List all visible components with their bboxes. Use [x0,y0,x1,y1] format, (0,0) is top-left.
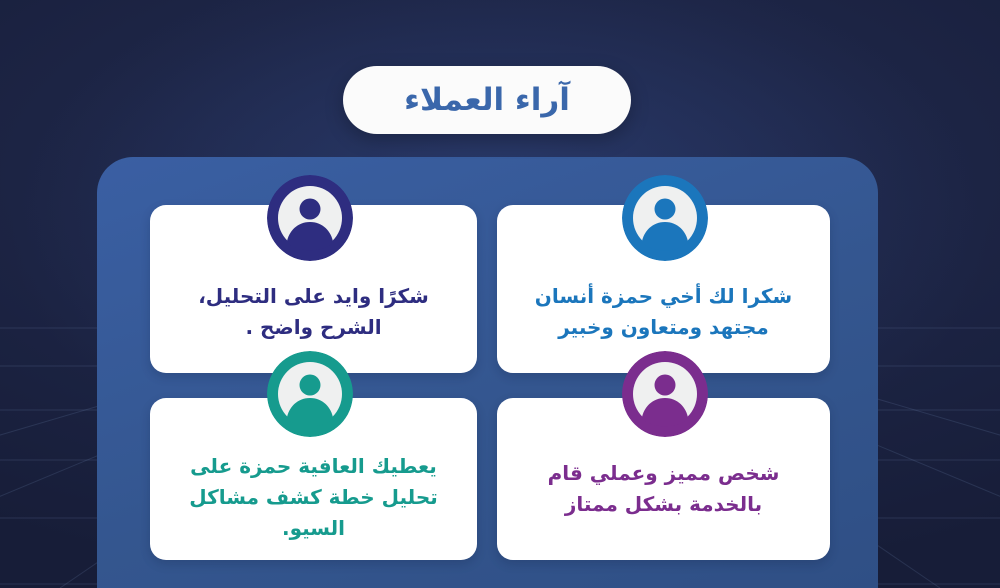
testimonial-text: شخص مميز وعملي قام بالخدمة بشكل ممتاز [497,438,830,520]
user-avatar-icon [622,351,708,437]
user-avatar-icon [267,175,353,261]
user-avatar-icon [267,351,353,437]
testimonials-slide: آراء العملاء شكرًا وايد على التحليل، الش… [0,0,1000,588]
user-avatar-icon [622,175,708,261]
page-title-pill: آراء العملاء [343,66,631,134]
page-title: آراء العملاء [404,85,570,116]
